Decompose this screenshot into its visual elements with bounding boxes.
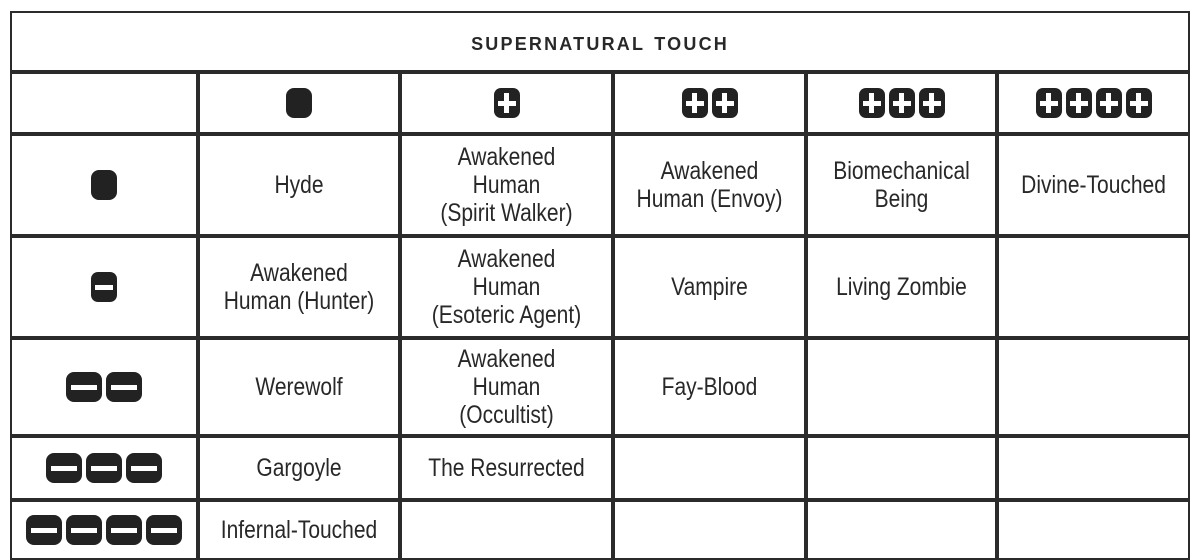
table-row: Awakened Human (Hunter) Awakened Human (…: [10, 236, 1190, 338]
cell-r4c4[interactable]: [806, 436, 997, 500]
cell-text: Awakened Human (Spirit Walker): [422, 143, 591, 227]
plus-pip-icon: [889, 88, 915, 118]
plus-pip-icon: [1126, 88, 1152, 118]
cell-text: Living Zombie: [826, 273, 976, 301]
column-header-2[interactable]: [400, 72, 613, 134]
cell-r1c4[interactable]: Biomechanical Being: [806, 134, 997, 236]
row-header-pips-4: [16, 440, 192, 496]
cell-r2c2[interactable]: Awakened Human (Esoteric Agent): [400, 236, 613, 338]
column-header-4[interactable]: [806, 72, 997, 134]
cell-text: Infernal-Touched: [219, 516, 379, 544]
cell-r1c1[interactable]: Hyde: [198, 134, 400, 236]
cell-r2c1[interactable]: Awakened Human (Hunter): [198, 236, 400, 338]
minus-pip-icon: [26, 515, 62, 545]
row-header-2[interactable]: [10, 236, 198, 338]
cell-r4c2[interactable]: The Resurrected: [400, 436, 613, 500]
minus-pip-icon: [91, 272, 117, 302]
column-header-pips-3: [619, 76, 800, 130]
row-header-3[interactable]: [10, 338, 198, 436]
table-row: Gargoyle The Resurrected: [10, 436, 1190, 500]
minus-pip-icon: [146, 515, 182, 545]
cell-text: Fay-Blood: [633, 373, 785, 401]
row-header-5[interactable]: [10, 500, 198, 560]
column-header-3[interactable]: [613, 72, 806, 134]
minus-pip-icon: [46, 453, 82, 483]
plus-pip-icon: [1096, 88, 1122, 118]
cell-r1c3[interactable]: Awakened Human (Envoy): [613, 134, 806, 236]
plus-pip-icon: [919, 88, 945, 118]
cell-r2c3[interactable]: Vampire: [613, 236, 806, 338]
plus-pip-icon: [712, 88, 738, 118]
cell-r5c2[interactable]: [400, 500, 613, 560]
cell-r3c3[interactable]: Fay-Blood: [613, 338, 806, 436]
minus-pip-icon: [66, 515, 102, 545]
plus-pip-icon: [859, 88, 885, 118]
column-header-5[interactable]: [997, 72, 1190, 134]
cell-r3c1[interactable]: Werewolf: [198, 338, 400, 436]
cell-text: Gargoyle: [219, 454, 379, 482]
cell-r5c1[interactable]: Infernal-Touched: [198, 500, 400, 560]
filled-square-pip-icon: [286, 88, 312, 118]
column-header-1[interactable]: [198, 72, 400, 134]
table-title-cell: Supernatural Touch: [10, 11, 1190, 72]
cell-r5c4[interactable]: [806, 500, 997, 560]
minus-pip-icon: [106, 372, 142, 402]
row-header-1[interactable]: [10, 134, 198, 236]
minus-pip-icon: [126, 453, 162, 483]
cell-text: Awakened Human (Occultist): [422, 345, 591, 429]
table-title-row: Supernatural Touch: [10, 11, 1190, 72]
row-header-pips-3: [16, 342, 192, 432]
plus-pip-icon: [1066, 88, 1092, 118]
cell-r4c1[interactable]: Gargoyle: [198, 436, 400, 500]
column-header-pips-1: [204, 76, 394, 130]
column-header-pips-4: [812, 76, 991, 130]
cell-r3c5[interactable]: [997, 338, 1190, 436]
table-row: Infernal-Touched: [10, 500, 1190, 560]
minus-pip-icon: [66, 372, 102, 402]
cell-text: Awakened Human (Hunter): [219, 259, 379, 315]
row-header-pips-5: [16, 504, 192, 556]
column-header-pips-2: [406, 76, 607, 130]
filled-square-pip-icon: [91, 170, 117, 200]
cell-r2c4[interactable]: Living Zombie: [806, 236, 997, 338]
supernatural-touch-table-container: Supernatural Touch: [10, 11, 1190, 529]
cell-r3c2[interactable]: Awakened Human (Occultist): [400, 338, 613, 436]
cell-r5c5[interactable]: [997, 500, 1190, 560]
supernatural-touch-matrix: Supernatural Touch: [10, 11, 1190, 560]
plus-pip-icon: [1036, 88, 1062, 118]
corner-cell: [10, 72, 198, 134]
cell-r1c5[interactable]: Divine-Touched: [997, 134, 1190, 236]
cell-r3c4[interactable]: [806, 338, 997, 436]
cell-r1c2[interactable]: Awakened Human (Spirit Walker): [400, 134, 613, 236]
plus-pip-icon: [494, 88, 520, 118]
cell-text: Divine-Touched: [1017, 171, 1169, 199]
table-row: Werewolf Awakened Human (Occultist) Fay-…: [10, 338, 1190, 436]
minus-pip-icon: [106, 515, 142, 545]
cell-text: Hyde: [219, 171, 379, 199]
cell-text: The Resurrected: [422, 454, 591, 482]
cell-text: Awakened Human (Esoteric Agent): [422, 245, 591, 329]
column-header-pips-5: [1003, 76, 1184, 130]
plus-pip-icon: [682, 88, 708, 118]
row-header-pips-1: [16, 138, 192, 232]
cell-text: Vampire: [633, 273, 785, 301]
column-header-row: [10, 72, 1190, 134]
cell-r4c3[interactable]: [613, 436, 806, 500]
cell-text: Biomechanical Being: [826, 157, 976, 213]
minus-pip-icon: [86, 453, 122, 483]
cell-r2c5[interactable]: [997, 236, 1190, 338]
page-title: Supernatural Touch: [471, 28, 729, 56]
table-row: Hyde Awakened Human (Spirit Walker) Awak…: [10, 134, 1190, 236]
row-header-4[interactable]: [10, 436, 198, 500]
cell-text: Awakened Human (Envoy): [633, 157, 785, 213]
cell-text: Werewolf: [219, 373, 379, 401]
cell-r4c5[interactable]: [997, 436, 1190, 500]
row-header-pips-2: [16, 240, 192, 334]
cell-r5c3[interactable]: [613, 500, 806, 560]
